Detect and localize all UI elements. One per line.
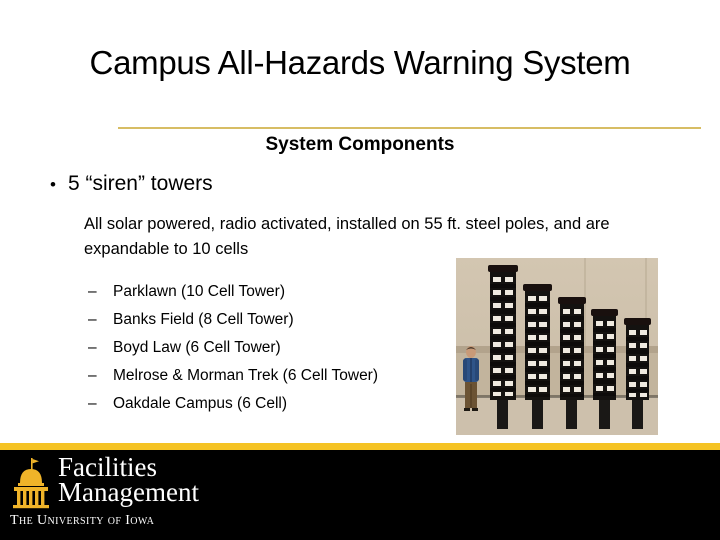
gold-divider-line xyxy=(118,127,701,129)
old-capitol-icon xyxy=(10,457,52,514)
dash-marker-icon: – xyxy=(88,312,101,328)
list-item: – Melrose & Morman Trek (6 Cell Tower) xyxy=(88,368,448,396)
bullet-dot-icon: • xyxy=(50,176,56,193)
footer-university-name: The University of Iowa xyxy=(10,513,154,529)
bullet-level1-label: 5 “siren” towers xyxy=(68,172,213,196)
list-item-label: Boyd Law (6 Cell Tower) xyxy=(113,340,281,356)
wordmark-line-management: Management xyxy=(58,480,199,505)
list-item-label: Parklawn (10 Cell Tower) xyxy=(113,284,285,300)
list-item: – Banks Field (8 Cell Tower) xyxy=(88,312,448,340)
list-item-label: Melrose & Morman Trek (6 Cell Tower) xyxy=(113,368,378,384)
dash-marker-icon: – xyxy=(88,396,101,412)
tower-location-list: – Parklawn (10 Cell Tower) – Banks Field… xyxy=(88,284,448,424)
list-item-label: Banks Field (8 Cell Tower) xyxy=(113,312,294,328)
list-item: – Parklawn (10 Cell Tower) xyxy=(88,284,448,312)
bullet-level2-description: All solar powered, radio activated, inst… xyxy=(84,212,654,262)
dash-marker-icon: – xyxy=(88,368,101,384)
list-item-label: Oakdale Campus (6 Cell) xyxy=(113,396,287,412)
dash-marker-icon: – xyxy=(88,340,101,356)
siren-tower-photo xyxy=(456,258,658,435)
section-heading: System Components xyxy=(0,134,720,156)
slide-title: Campus All-Hazards Warning System xyxy=(0,44,720,82)
bullet-item-siren-towers: • 5 “siren” towers xyxy=(50,172,213,196)
footer-gold-bar xyxy=(0,443,720,450)
footer-wordmark: Facilities Management xyxy=(58,455,199,506)
facilities-management-logo: Facilities Management xyxy=(10,455,199,514)
list-item: – Oakdale Campus (6 Cell) xyxy=(88,396,448,424)
list-item: – Boyd Law (6 Cell Tower) xyxy=(88,340,448,368)
dash-marker-icon: – xyxy=(88,284,101,300)
presentation-slide: Campus All-Hazards Warning System System… xyxy=(0,0,720,540)
